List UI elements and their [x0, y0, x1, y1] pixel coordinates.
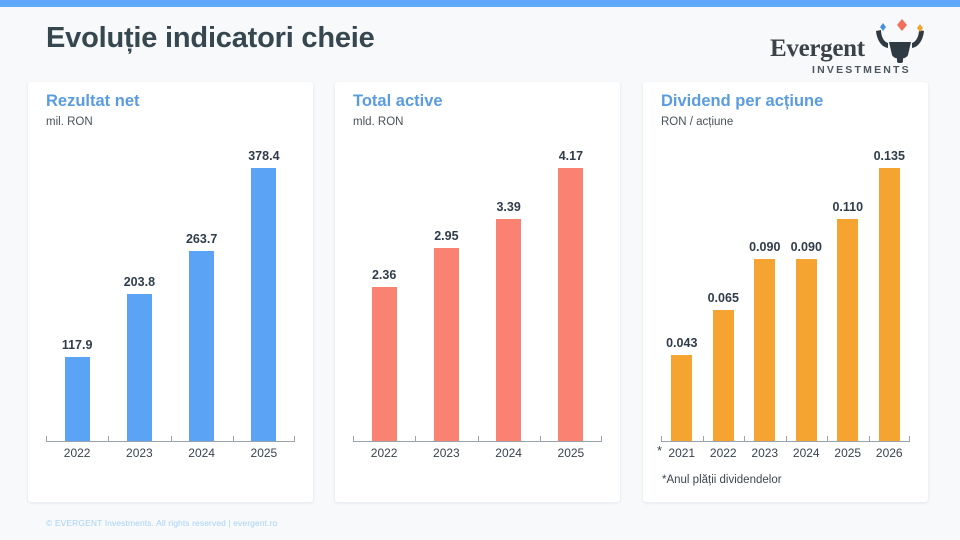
bar-value-label: 0.065 — [708, 291, 739, 305]
bar — [713, 310, 734, 442]
bar — [754, 259, 775, 442]
bar — [796, 259, 817, 442]
bar-value-label: 0.090 — [749, 240, 780, 254]
axis-baseline — [46, 441, 295, 442]
bar — [189, 251, 214, 442]
bar-value-label: 4.17 — [559, 149, 583, 163]
bar — [251, 168, 276, 442]
bar-value-label: 263.7 — [186, 232, 217, 246]
card-title: Total active — [353, 92, 443, 111]
bar-value-label: 117.9 — [62, 338, 93, 352]
category-label: 2024 — [171, 446, 233, 460]
category-labels: 2022202320242025 — [353, 446, 602, 460]
bar-column: 0.090 — [786, 142, 828, 442]
bar — [372, 287, 397, 442]
bar-value-label: 2.95 — [434, 229, 458, 243]
bar-column: 3.39 — [478, 142, 540, 442]
bar — [879, 168, 900, 442]
card-title: Dividend per acțiune — [661, 92, 823, 111]
chart-card-dividend: Dividend per acțiune RON / acțiune 0.043… — [643, 82, 928, 502]
bar-value-label: 0.043 — [666, 336, 697, 350]
brand-wordmark: Evergent — [770, 35, 865, 63]
brand-logo: Evergent INVESTMENTS — [770, 19, 930, 81]
brand-tagline: INVESTMENTS — [812, 64, 911, 76]
bar-column: 0.090 — [744, 142, 786, 442]
bar-value-label: 2.36 — [372, 268, 396, 282]
category-label: 2021 — [661, 446, 703, 460]
category-label: 2025 — [540, 446, 602, 460]
category-label: 2022 — [703, 446, 745, 460]
category-labels: 202120222023202420252026 — [661, 446, 910, 460]
bar — [496, 219, 521, 442]
bars-row: 0.0430.0650.0900.0900.1100.135 — [661, 142, 910, 442]
bar-column: 203.8 — [108, 142, 170, 442]
bar-column: 0.043 — [661, 142, 703, 442]
bar-column: 2.95 — [415, 142, 477, 442]
bar-chart-plot: 117.9203.8263.7378.4 — [28, 142, 313, 442]
bar-value-label: 0.135 — [874, 149, 905, 163]
category-label: 2022 — [353, 446, 415, 460]
chart-card-total-active: Total active mld. RON 2.362.953.394.17 2… — [335, 82, 620, 502]
card-title: Rezultat net — [46, 92, 140, 111]
bar-column: 378.4 — [233, 142, 295, 442]
bar-column: 263.7 — [171, 142, 233, 442]
bar — [127, 294, 152, 442]
axis-baseline — [661, 441, 910, 442]
card-subtitle: RON / acțiune — [661, 116, 733, 128]
bar — [558, 168, 583, 442]
top-accent-bar — [0, 0, 960, 7]
bull-horns-icon — [872, 19, 928, 63]
bars-row: 117.9203.8263.7378.4 — [46, 142, 295, 442]
bar-value-label: 378.4 — [248, 149, 279, 163]
bar-column: 4.17 — [540, 142, 602, 442]
category-label: 2024 — [478, 446, 540, 460]
bar-value-label: 203.8 — [124, 275, 155, 289]
category-label: 2023 — [415, 446, 477, 460]
card-subtitle: mld. RON — [353, 116, 403, 128]
category-label: 2024 — [786, 446, 828, 460]
bar — [671, 355, 692, 442]
bar-column: 117.9 — [46, 142, 108, 442]
bar-value-label: 0.110 — [832, 200, 863, 214]
bar-chart-plot: 2.362.953.394.17 — [335, 142, 620, 442]
card-subtitle: mil. RON — [46, 116, 93, 128]
bar — [65, 357, 90, 442]
bar-column: 0.110 — [827, 142, 869, 442]
bar — [434, 248, 459, 442]
chart-card-rezultat-net: Rezultat net mil. RON 117.9203.8263.7378… — [28, 82, 313, 502]
category-label: 2025 — [233, 446, 295, 460]
category-label: 2023 — [744, 446, 786, 460]
bar — [837, 219, 858, 442]
category-labels: 2022202320242025 — [46, 446, 295, 460]
axis-baseline — [353, 441, 602, 442]
bar-column: 0.135 — [869, 142, 911, 442]
page-title: Evoluție indicatori cheie — [46, 22, 375, 55]
bars-row: 2.362.953.394.17 — [353, 142, 602, 442]
category-label: 2025 — [827, 446, 869, 460]
category-label: 2022 — [46, 446, 108, 460]
chart-footnote: *Anul plății dividendelor — [662, 474, 782, 486]
bar-value-label: 3.39 — [496, 200, 520, 214]
category-label: 2026 — [869, 446, 911, 460]
page-header: Evoluție indicatori cheie Evergent INVES… — [0, 7, 960, 82]
category-label: 2023 — [108, 446, 170, 460]
bar-value-label: 0.090 — [791, 240, 822, 254]
page-footer-copyright: © EVERGENT Investments. All rights reser… — [46, 518, 277, 528]
bar-column: 2.36 — [353, 142, 415, 442]
bar-column: 0.065 — [703, 142, 745, 442]
bar-chart-plot: 0.0430.0650.0900.0900.1100.135 — [643, 142, 928, 442]
